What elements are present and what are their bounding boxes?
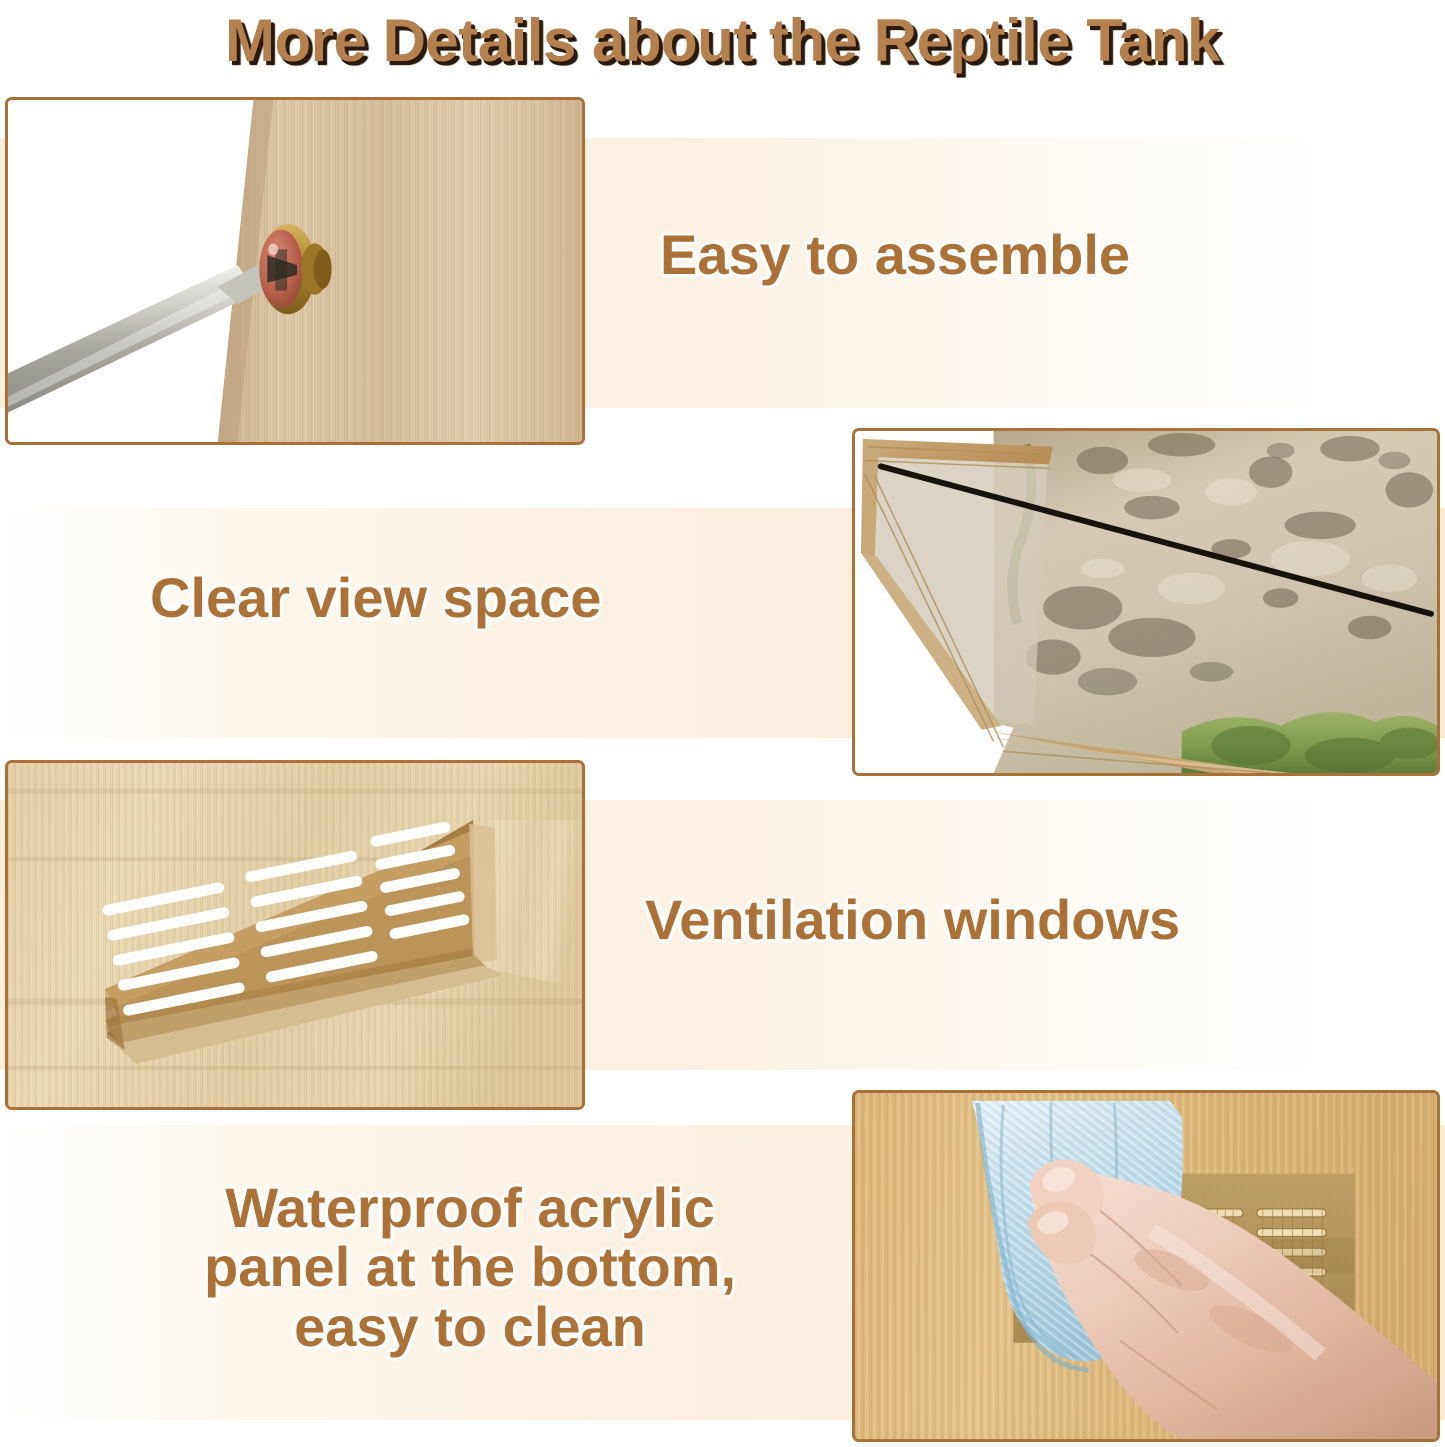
caption-easy-to-assemble: Easy to assemble <box>660 225 1400 284</box>
caption-clear-view-space: Clear view space <box>150 568 870 627</box>
clear-acrylic-panel-illustration <box>855 431 1437 773</box>
page-title: More Details about the Reptile Tank <box>225 6 1220 75</box>
photo-clear-view-space <box>852 428 1440 776</box>
screwdriver-screw-illustration <box>8 100 582 442</box>
ventilation-vent-illustration <box>8 763 582 1107</box>
photo-ventilation-windows <box>5 760 585 1110</box>
photo-waterproof-acrylic-panel <box>852 1090 1440 1442</box>
caption-waterproof-acrylic-panel: Waterproof acrylic panel at the bottom, … <box>90 1178 850 1356</box>
hand-wiping-panel-illustration <box>855 1093 1437 1439</box>
caption-ventilation-windows: Ventilation windows <box>645 890 1435 949</box>
photo-easy-to-assemble <box>5 97 585 445</box>
page-header: More Details about the Reptile Tank <box>0 0 1445 80</box>
